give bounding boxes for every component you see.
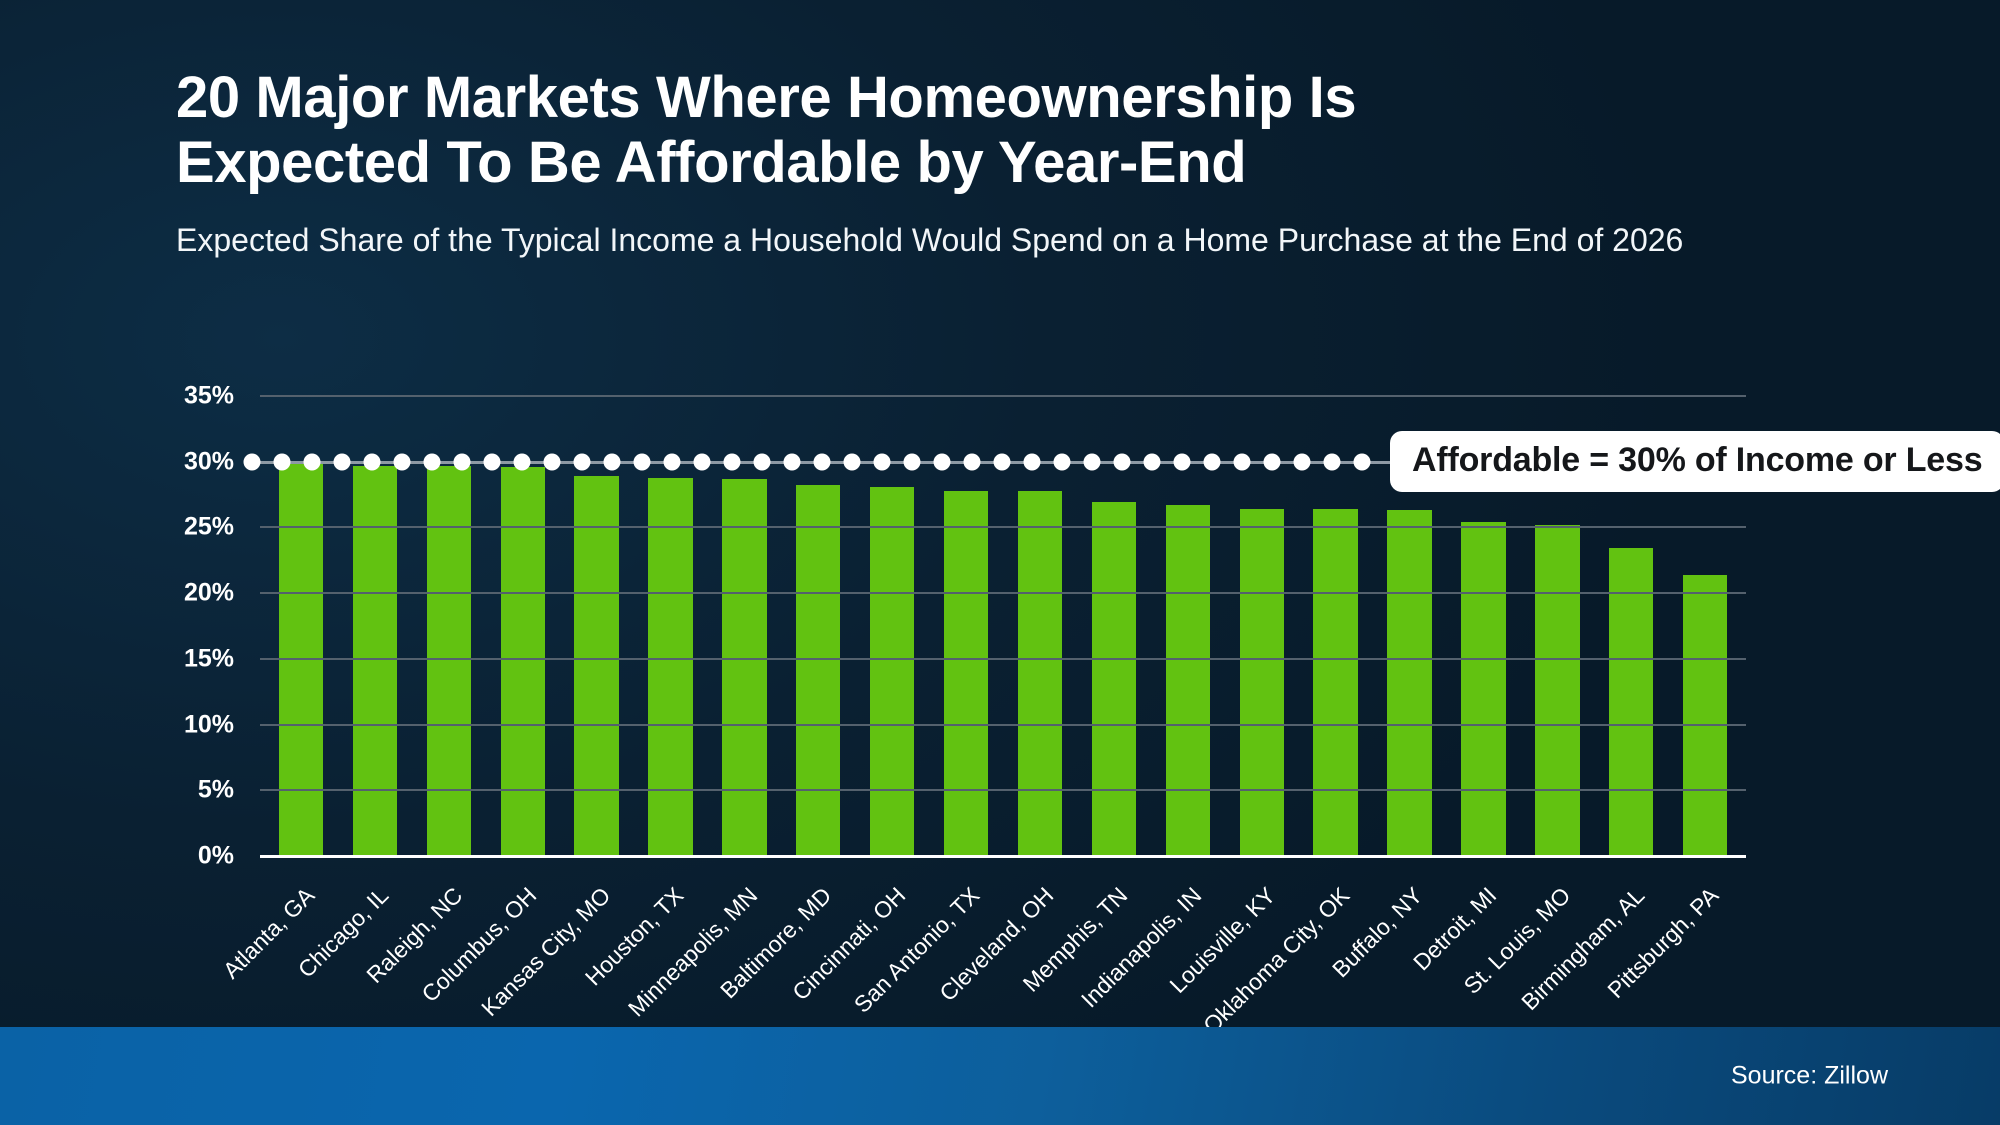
threshold-dot bbox=[604, 454, 621, 471]
threshold-dot bbox=[1264, 454, 1281, 471]
bar-slot bbox=[412, 396, 486, 856]
bar[interactable] bbox=[944, 491, 988, 856]
threshold-dot bbox=[844, 454, 861, 471]
threshold-dot bbox=[304, 454, 321, 471]
threshold-dot bbox=[454, 454, 471, 471]
threshold-dot bbox=[874, 454, 891, 471]
threshold-dot bbox=[1144, 454, 1161, 471]
bar[interactable] bbox=[1387, 510, 1431, 856]
threshold-dot bbox=[1324, 454, 1341, 471]
bar[interactable] bbox=[1609, 548, 1653, 856]
y-axis-tick: 10% bbox=[184, 710, 234, 739]
gridline-0 bbox=[260, 855, 1746, 858]
threshold-dot bbox=[784, 454, 801, 471]
plot-area: Affordable = 30% of Income or Less 35%30… bbox=[260, 396, 1746, 856]
threshold-dot bbox=[1204, 454, 1221, 471]
chart: Affordable = 30% of Income or Less 35%30… bbox=[176, 376, 1776, 856]
threshold-dot bbox=[544, 454, 561, 471]
y-axis-tick: 15% bbox=[184, 644, 234, 673]
threshold-dot bbox=[814, 454, 831, 471]
page-subtitle: Expected Share of the Typical Income a H… bbox=[176, 220, 1806, 261]
bar[interactable] bbox=[279, 464, 323, 856]
y-axis-tick: 30% bbox=[184, 447, 234, 476]
y-axis-tick: 0% bbox=[198, 842, 234, 871]
threshold-dot bbox=[934, 454, 951, 471]
bar[interactable] bbox=[353, 466, 397, 856]
gridline-35 bbox=[260, 395, 1746, 397]
gridline-5 bbox=[260, 789, 1746, 791]
threshold-dot bbox=[754, 454, 771, 471]
header: 20 Major Markets Where Homeownership Is … bbox=[176, 66, 1876, 261]
threshold-dot bbox=[514, 454, 531, 471]
threshold-dot bbox=[1024, 454, 1041, 471]
threshold-dot bbox=[574, 454, 591, 471]
threshold-dot bbox=[364, 454, 381, 471]
y-axis-tick: 5% bbox=[198, 776, 234, 805]
y-axis-tick: 25% bbox=[184, 513, 234, 542]
bar[interactable] bbox=[870, 487, 914, 856]
threshold-dot bbox=[1054, 454, 1071, 471]
threshold-dot bbox=[394, 454, 411, 471]
bar[interactable] bbox=[1240, 509, 1284, 856]
bar[interactable] bbox=[574, 476, 618, 856]
bar[interactable] bbox=[1018, 491, 1062, 856]
y-axis-tick: 35% bbox=[184, 382, 234, 411]
gridline-25 bbox=[260, 526, 1746, 528]
footer-bar: Source: Zillow bbox=[0, 1027, 2000, 1125]
threshold-annotation: Affordable = 30% of Income or Less bbox=[1390, 431, 2000, 492]
threshold-dot bbox=[904, 454, 921, 471]
page-title: 20 Major Markets Where Homeownership Is … bbox=[176, 66, 1606, 196]
gridline-10 bbox=[260, 724, 1746, 726]
bar[interactable] bbox=[648, 478, 692, 857]
threshold-dot bbox=[664, 454, 681, 471]
bar[interactable] bbox=[1166, 505, 1210, 856]
threshold-dot bbox=[244, 454, 261, 471]
bar[interactable] bbox=[796, 485, 840, 856]
threshold-dot bbox=[1114, 454, 1131, 471]
threshold-dot bbox=[964, 454, 981, 471]
threshold-dot bbox=[1174, 454, 1191, 471]
bar[interactable] bbox=[1313, 509, 1357, 856]
threshold-dot bbox=[694, 454, 711, 471]
bar[interactable] bbox=[1092, 502, 1136, 856]
threshold-dot bbox=[994, 454, 1011, 471]
bar[interactable] bbox=[1461, 522, 1505, 856]
bar[interactable] bbox=[1535, 525, 1579, 856]
bar[interactable] bbox=[1683, 575, 1727, 856]
threshold-dot bbox=[634, 454, 651, 471]
threshold-dot bbox=[1354, 454, 1371, 471]
slide-root: 20 Major Markets Where Homeownership Is … bbox=[0, 0, 2000, 1125]
bar[interactable] bbox=[722, 479, 766, 856]
bar-slot bbox=[707, 396, 781, 856]
gridline-20 bbox=[260, 592, 1746, 594]
threshold-dot bbox=[484, 454, 501, 471]
threshold-dot bbox=[1294, 454, 1311, 471]
gridline-15 bbox=[260, 658, 1746, 660]
y-axis-tick: 20% bbox=[184, 579, 234, 608]
threshold-dot bbox=[1234, 454, 1251, 471]
threshold-dot bbox=[1084, 454, 1101, 471]
source-label: Source: Zillow bbox=[1731, 1062, 1888, 1091]
threshold-dot bbox=[724, 454, 741, 471]
threshold-dot bbox=[424, 454, 441, 471]
threshold-dot bbox=[274, 454, 291, 471]
bar[interactable] bbox=[501, 467, 545, 856]
x-axis-label: Kansas City, MO bbox=[476, 882, 616, 1022]
bar[interactable] bbox=[427, 466, 471, 856]
threshold-dot bbox=[334, 454, 351, 471]
bar-slot bbox=[560, 396, 634, 856]
x-axis-label: San Antonio, TX bbox=[849, 882, 985, 1018]
x-axis-label: Minneapolis, MN bbox=[623, 882, 763, 1022]
